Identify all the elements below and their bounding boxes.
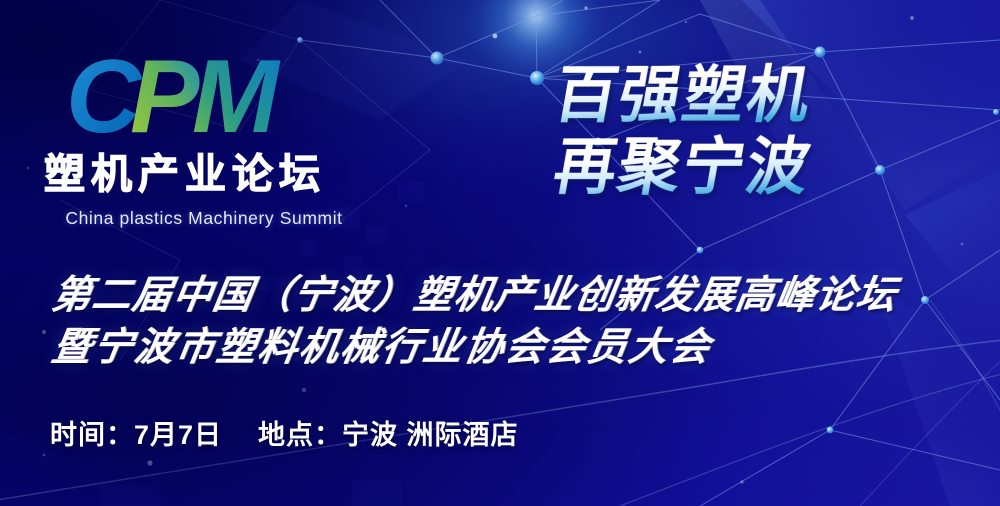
headline-slogan: 百强塑机 再聚宁波 bbox=[548, 58, 968, 208]
event-info: 时间：7月7日地点：宁波 洲际酒店 bbox=[50, 413, 519, 452]
place-value: 宁波 洲际酒店 bbox=[342, 413, 519, 452]
event-title-line-1: 第二届中国（宁波）塑机产业创新发展高峰论坛 bbox=[48, 270, 986, 322]
time-value: 7月7日 bbox=[134, 413, 222, 452]
headline-line1: 百强塑机 bbox=[549, 60, 817, 129]
svg-text:P: P bbox=[130, 52, 200, 138]
headline-line2: 再聚宁波 bbox=[549, 132, 817, 201]
event-poster: C P M 塑机产业论坛 China plastics Machinery Su… bbox=[0, 0, 1000, 506]
place-label: 地点： bbox=[258, 413, 342, 452]
cpm-wordmark: C P M bbox=[68, 52, 364, 138]
event-title: 第二届中国（宁波）塑机产业创新发展高峰论坛 暨宁波市塑料机械行业协会会员大会 bbox=[48, 270, 978, 374]
logo-chinese-name-text: 塑机产业论坛 bbox=[44, 151, 326, 197]
logo-chinese-name: 塑机产业论坛 bbox=[42, 148, 364, 196]
time-label: 时间： bbox=[50, 413, 134, 452]
cpm-logo-block: C P M 塑机产业论坛 China plastics Machinery Su… bbox=[44, 52, 364, 229]
event-title-line-2: 暨宁波市塑料机械行业协会会员大会 bbox=[48, 322, 986, 374]
logo-english-name: China plastics Machinery Summit bbox=[44, 208, 364, 229]
svg-text:M: M bbox=[192, 52, 281, 138]
